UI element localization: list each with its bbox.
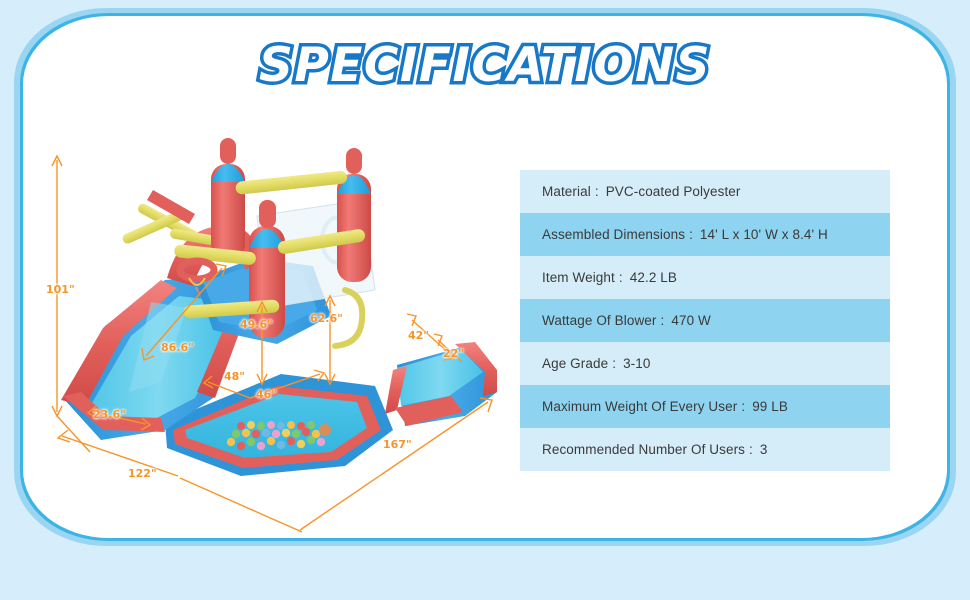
dim-pool-width: 48" (224, 370, 245, 383)
spec-value: 42.2 LB (626, 270, 677, 285)
spec-label: Maximum Weight Of Every User (542, 399, 737, 414)
spec-label: Material (542, 184, 591, 199)
dim-tower-height: 62.6" (310, 312, 343, 325)
spec-separator: : (737, 399, 748, 414)
spec-separator: : (608, 356, 619, 371)
specifications-table: Material:PVC-coated PolyesterAssembled D… (520, 170, 890, 471)
dim-footprint-length: 167" (383, 438, 412, 451)
bottom-background-fill (0, 548, 970, 600)
spec-row: Item Weight:42.2 LB (520, 256, 890, 299)
spec-separator: : (745, 442, 756, 457)
dim-slide-length: 86.6" (161, 341, 194, 354)
specifications-page: SPECIFICATIONS (0, 0, 970, 600)
dim-right-slide-width: 22" (443, 347, 464, 360)
spec-row: Recommended Number Of Users:3 (520, 428, 890, 471)
spec-value: 14' L x 10' W x 8.4' H (696, 227, 828, 242)
dim-overall-height: 101" (46, 283, 75, 296)
spec-label: Wattage Of Blower (542, 313, 657, 328)
spec-value: 3-10 (619, 356, 650, 371)
spec-row: Maximum Weight Of Every User:99 LB (520, 385, 890, 428)
spec-label: Assembled Dimensions (542, 227, 685, 242)
spec-separator: : (615, 270, 626, 285)
spec-label: Recommended Number Of Users (542, 442, 745, 457)
dim-footprint-width: 122" (128, 467, 157, 480)
spec-label: Age Grade (542, 356, 608, 371)
spec-value: 3 (756, 442, 768, 457)
spec-separator: : (685, 227, 696, 242)
spec-label: Item Weight (542, 270, 615, 285)
dim-climbing-wall-height: 49.6" (240, 318, 273, 331)
spec-value: 470 W (667, 313, 711, 328)
dim-slide-base-width: 23.6" (93, 408, 126, 421)
spec-row: Wattage Of Blower:470 W (520, 299, 890, 342)
page-title: SPECIFICATIONS (259, 38, 711, 93)
dim-pool-depth: 46" (256, 388, 277, 401)
spec-separator: : (657, 313, 668, 328)
spec-value: PVC-coated Polyester (602, 184, 741, 199)
dim-right-slide-length: 42" (408, 329, 429, 342)
spec-value: 99 LB (748, 399, 788, 414)
spec-separator: : (591, 184, 602, 199)
spec-row: Assembled Dimensions:14' L x 10' W x 8.4… (520, 213, 890, 256)
page-title-wrapper: SPECIFICATIONS (0, 38, 970, 93)
spec-row: Age Grade:3-10 (520, 342, 890, 385)
product-illustration (45, 130, 525, 530)
spec-row: Material:PVC-coated Polyester (520, 170, 890, 213)
